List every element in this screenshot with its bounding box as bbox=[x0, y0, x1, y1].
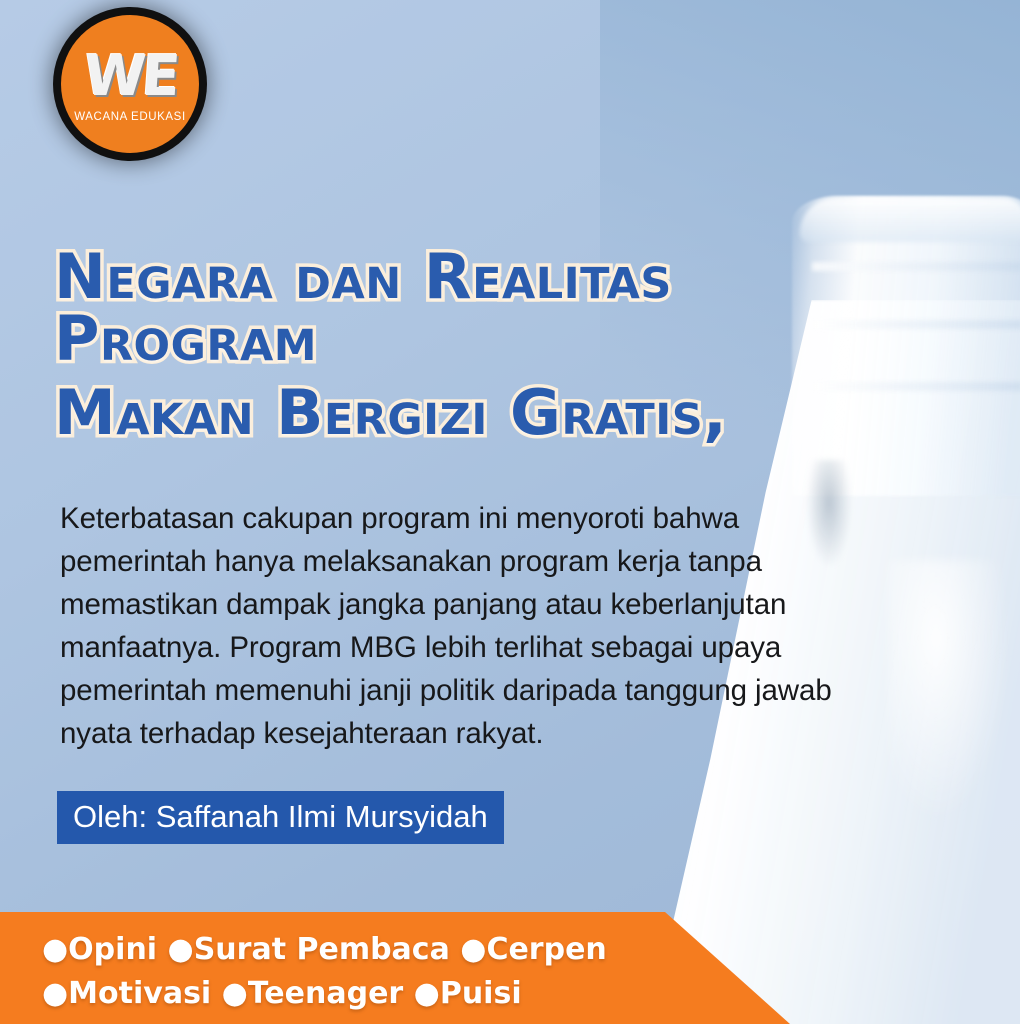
headline-line-2: Program bbox=[54, 309, 874, 369]
headline-line-3: Makan Bergizi Gratis, bbox=[54, 383, 874, 443]
article-summary-text: Keterbatasan cakupan program ini menyoro… bbox=[60, 497, 860, 755]
logo-brand-name: WACANA EDUKASI bbox=[74, 111, 186, 123]
headline-block: Negara dan Realitas Program Makan Bergiz… bbox=[54, 247, 874, 445]
author-byline: Oleh: Saffanah Ilmi Mursyidah bbox=[57, 791, 504, 844]
brand-logo: WE WACANA EDUKASI bbox=[61, 15, 199, 153]
footer-category-line-2: ●Motivasi ●Teenager ●Puisi bbox=[42, 972, 607, 1016]
headline-line-1: Negara dan Realitas bbox=[54, 247, 874, 307]
footer-category-line-1: ●Opini ●Surat Pembaca ●Cerpen bbox=[42, 928, 607, 972]
milk-bottle-specular-highlight bbox=[888, 560, 1008, 820]
logo-monogram: WE bbox=[82, 49, 178, 105]
milk-bottle-rim-image bbox=[800, 198, 1020, 242]
footer-category-list: ●Opini ●Surat Pembaca ●Cerpen ●Motivasi … bbox=[42, 928, 607, 1016]
poster-canvas: WE WACANA EDUKASI Negara dan Realitas Pr… bbox=[0, 0, 1020, 1024]
